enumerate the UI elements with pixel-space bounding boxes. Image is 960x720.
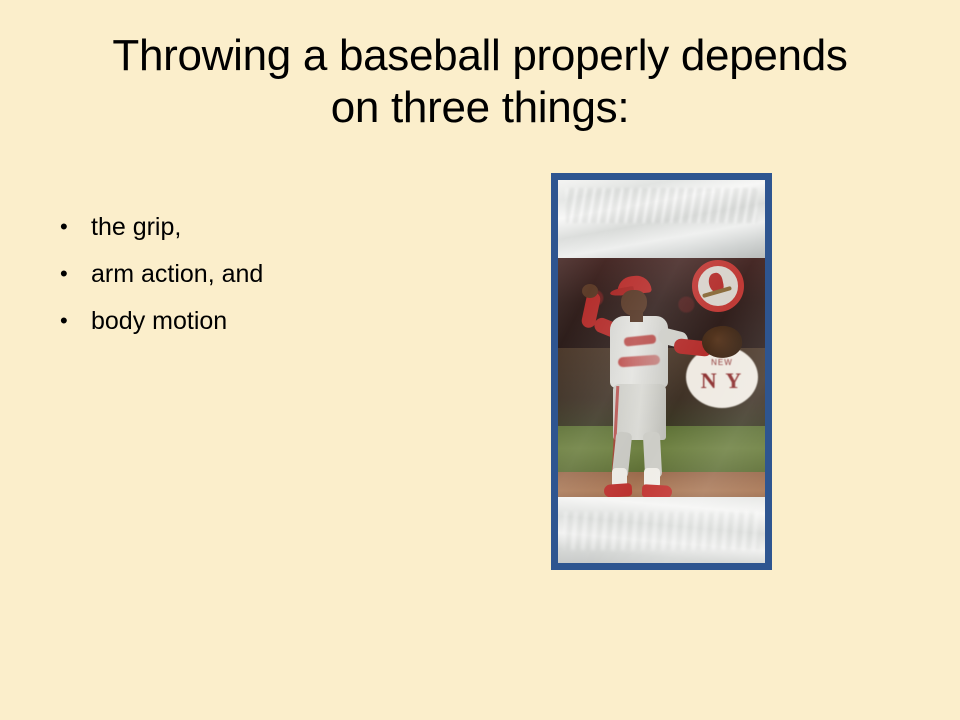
- back-cleat: [604, 483, 633, 498]
- title-line-2: on three things:: [50, 82, 910, 134]
- slide: Throwing a baseball properly depends on …: [0, 0, 960, 720]
- list-item-label: the grip,: [81, 212, 181, 242]
- list-item: • body motion: [55, 306, 485, 353]
- player-neck: [630, 310, 643, 322]
- bullet-list: • the grip, • arm action, and • body mot…: [55, 212, 485, 353]
- photo-frame: NEW N Y: [551, 173, 772, 570]
- photo-glare-bottom: [558, 497, 765, 563]
- list-item: • the grip,: [55, 212, 485, 259]
- list-item: • arm action, and: [55, 259, 485, 306]
- list-item-label: body motion: [81, 306, 227, 336]
- photo-glare-top: [558, 180, 765, 258]
- title-line-1: Throwing a baseball properly depends: [50, 30, 910, 82]
- list-item-label: arm action, and: [81, 259, 263, 289]
- bullet-icon: •: [55, 306, 81, 336]
- throwing-hand: [582, 284, 598, 298]
- baseball-player-photo: NEW N Y: [558, 180, 765, 563]
- page-title: Throwing a baseball properly depends on …: [50, 30, 910, 134]
- bullet-icon: •: [55, 259, 81, 289]
- bullet-icon: •: [55, 212, 81, 242]
- jersey: [610, 316, 668, 388]
